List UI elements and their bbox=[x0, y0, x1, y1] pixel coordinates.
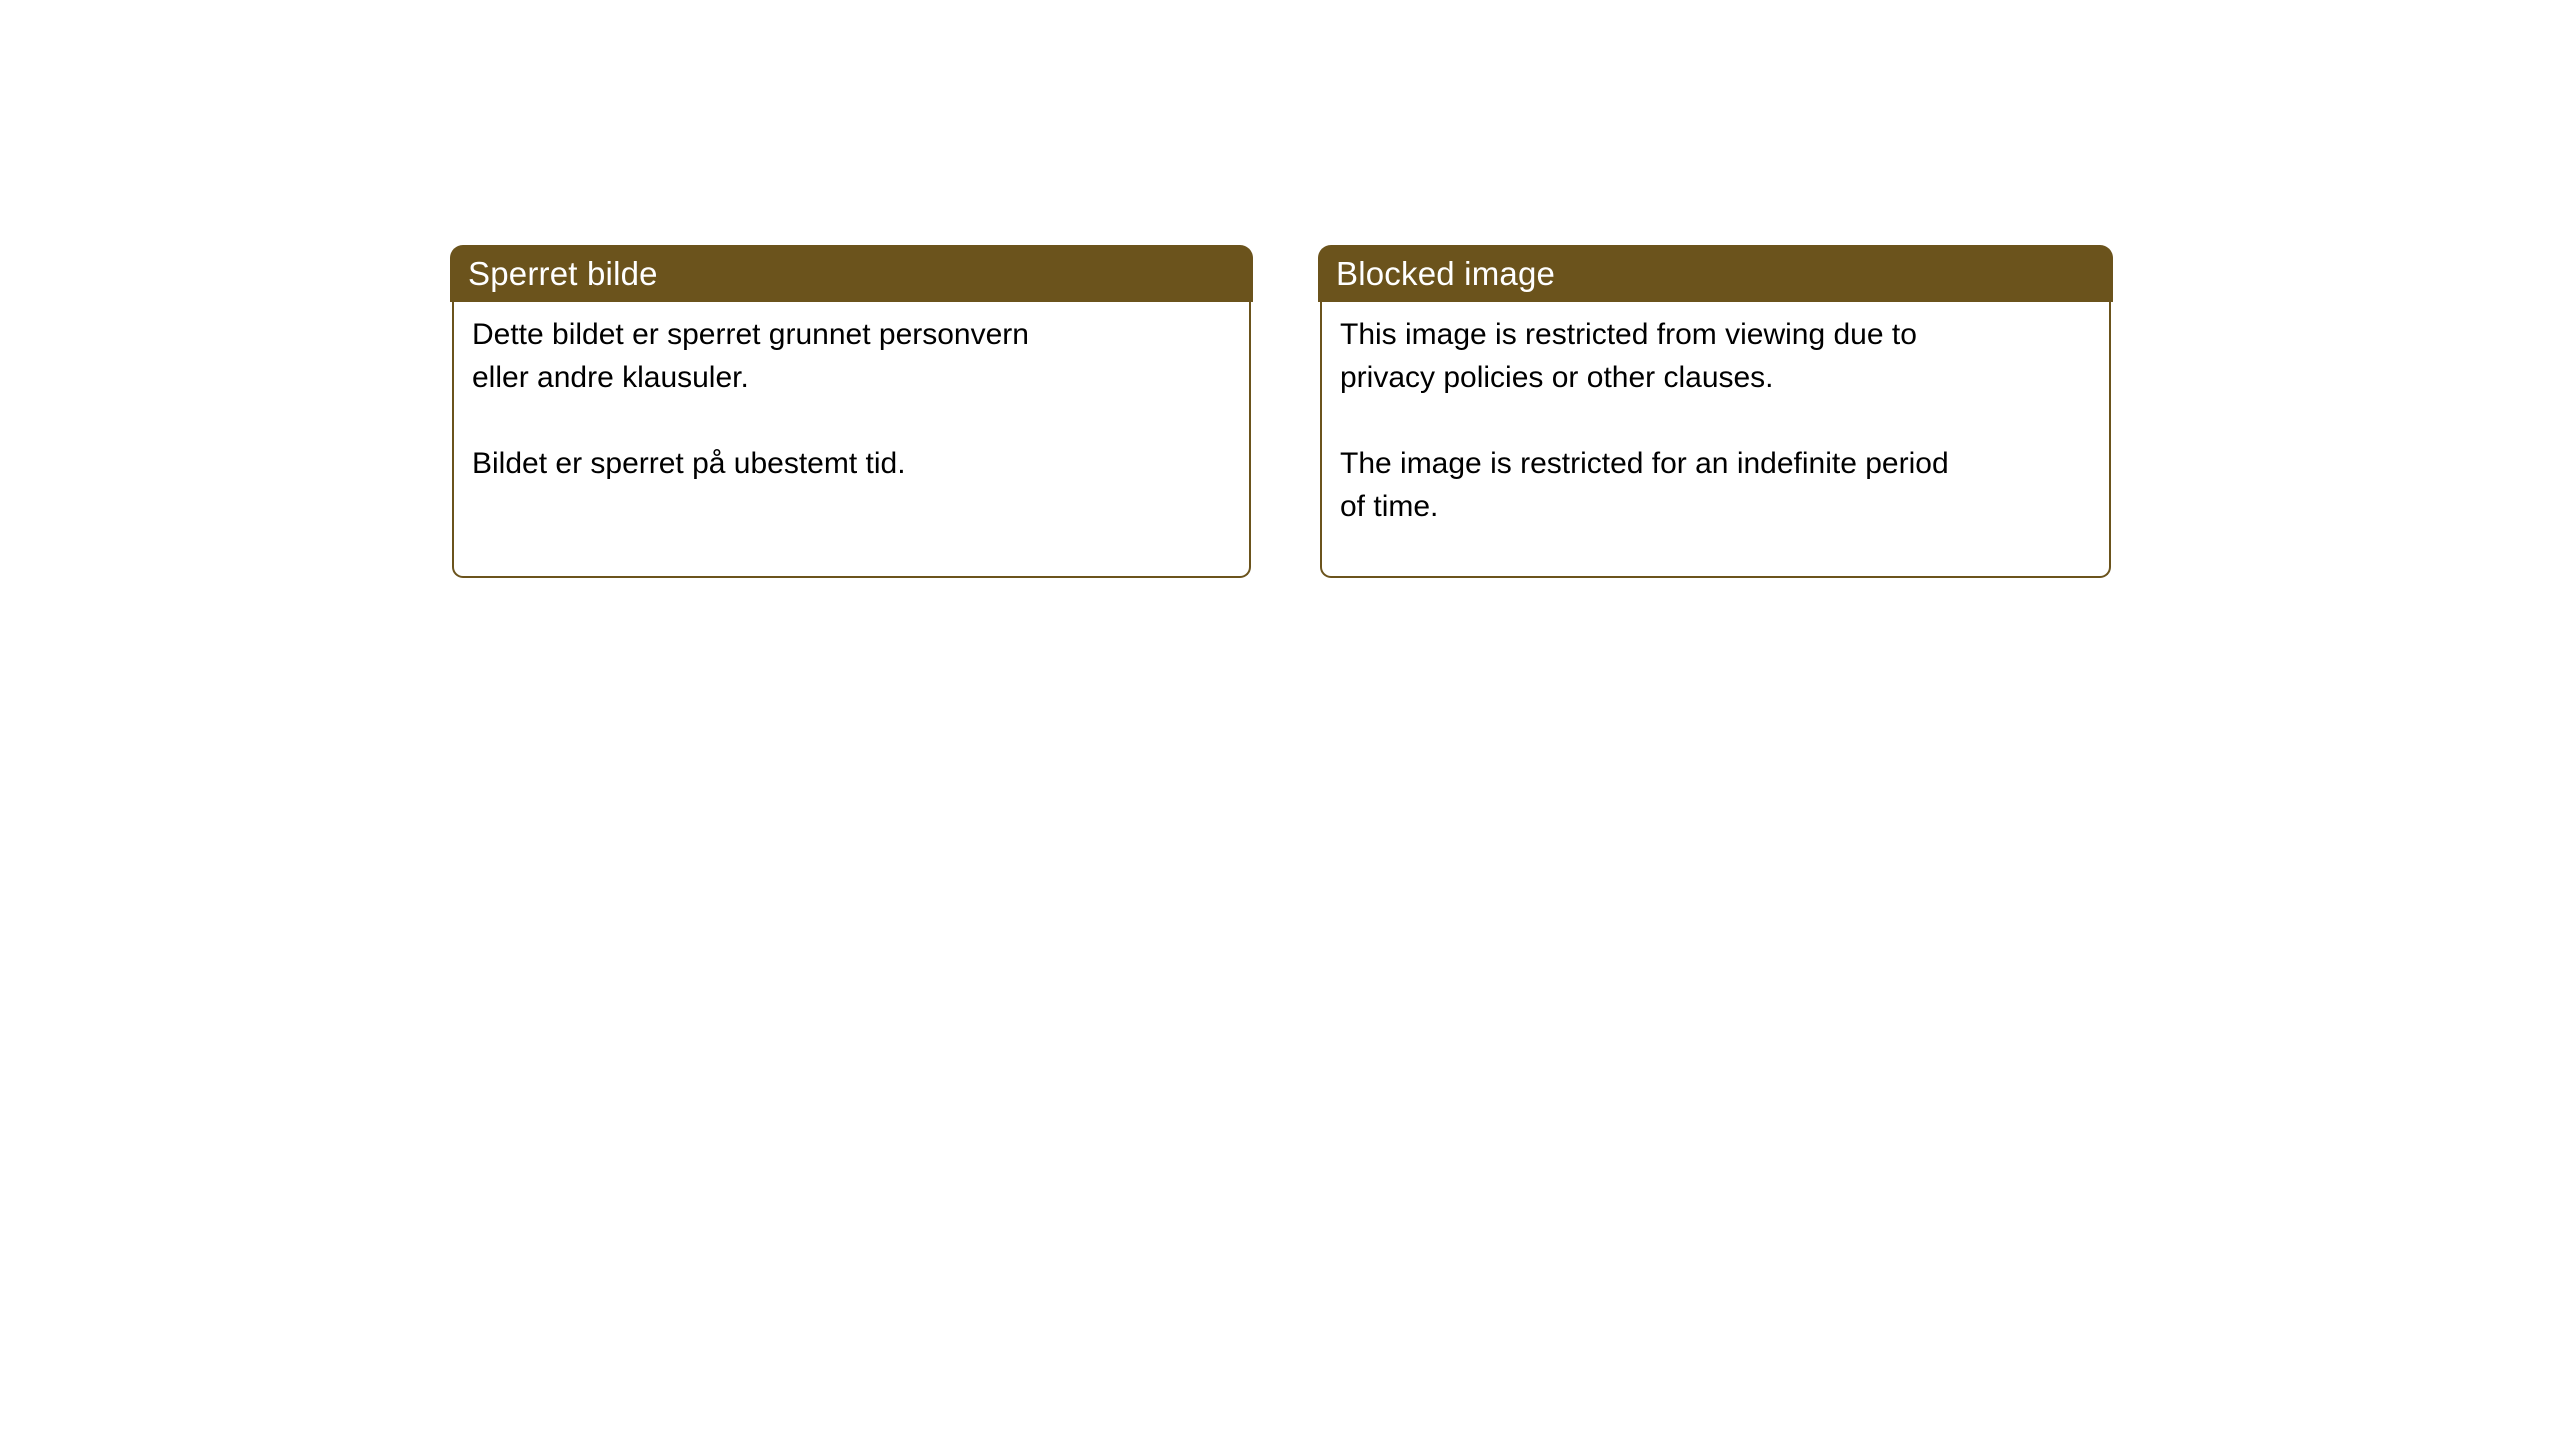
blocked-image-panel-no: Sperret bilde Dette bildet er sperret gr… bbox=[450, 245, 1253, 578]
panel-paragraph-no-2: Bildet er sperret på ubestemt tid. bbox=[472, 442, 1229, 485]
panel-body-en: This image is restricted from viewing du… bbox=[1320, 295, 2111, 578]
page-canvas: Sperret bilde Dette bildet er sperret gr… bbox=[0, 0, 2560, 1440]
panel-header-en: Blocked image bbox=[1318, 245, 2113, 302]
panel-title-en: Blocked image bbox=[1318, 257, 1555, 290]
panel-paragraph-no-1: Dette bildet er sperret grunnet personve… bbox=[472, 313, 1229, 399]
panel-paragraph-en-2: The image is restricted for an indefinit… bbox=[1340, 442, 2089, 528]
panel-paragraph-en-1: This image is restricted from viewing du… bbox=[1340, 313, 2089, 399]
panel-title-no: Sperret bilde bbox=[450, 257, 658, 290]
panel-body-no: Dette bildet er sperret grunnet personve… bbox=[452, 295, 1251, 578]
blocked-image-panel-en: Blocked image This image is restricted f… bbox=[1318, 245, 2113, 578]
panel-header-no: Sperret bilde bbox=[450, 245, 1253, 302]
